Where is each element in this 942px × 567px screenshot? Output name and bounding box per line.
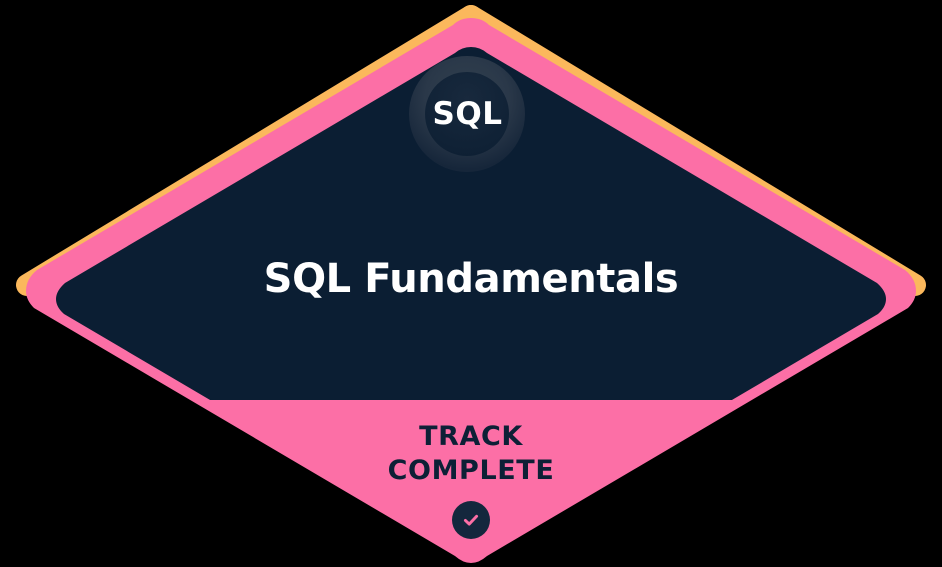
- track-badge: SQL SQL Fundamentals TRACK COMPLETE: [0, 0, 942, 567]
- sql-emblem-core: [425, 72, 509, 156]
- badge-shape-stack: [0, 0, 942, 567]
